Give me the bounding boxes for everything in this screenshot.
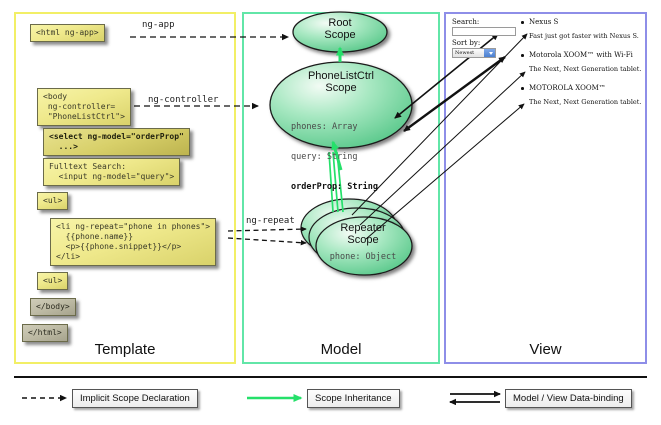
edge-label-ng-app: ng-app (142, 20, 175, 30)
edge-label-ng-repeat: ng-repeat (246, 216, 295, 226)
legend-item-implicit-scope-declaration: Implicit Scope Declaration (72, 389, 198, 408)
legend-item-scope-inheritance: Scope Inheritance (307, 389, 400, 408)
edge-label-ng-controller: ng-controller (148, 95, 218, 105)
legend-item-model-view-data-binding: Model / View Data-binding (505, 389, 632, 408)
legend-arrows-layer (0, 0, 661, 425)
diagram-canvas: Root Scope PhoneListCtrl Scope phones: A… (0, 0, 661, 425)
